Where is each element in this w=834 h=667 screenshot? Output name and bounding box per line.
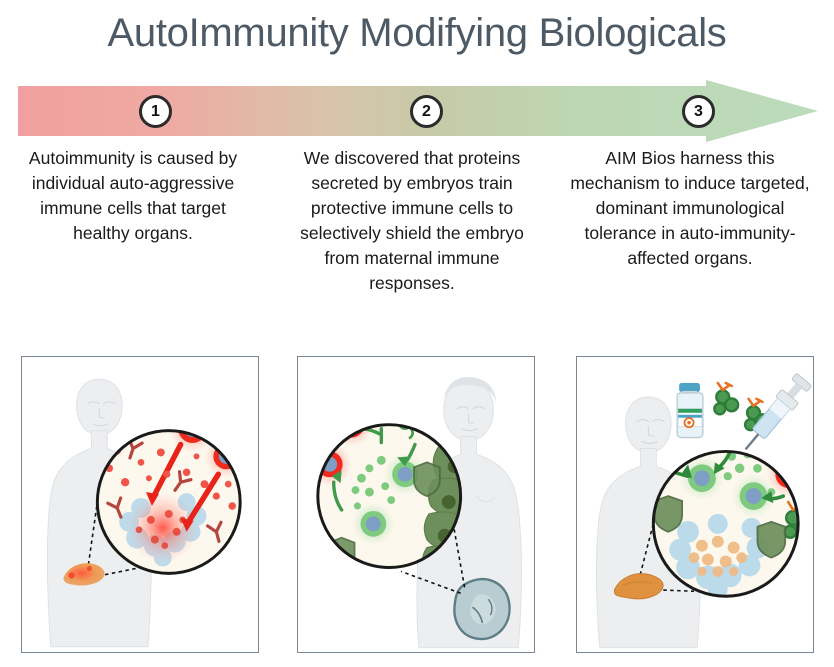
progress-arrow: 1 2 3: [18, 80, 818, 142]
page-title: AutoImmunity Modifying Biologicals: [0, 8, 834, 58]
panel-3-artwork: [577, 357, 813, 652]
description-columns: Autoimmunity is caused by individual aut…: [0, 146, 834, 341]
column-text-2: We discovered that proteins secreted by …: [291, 146, 533, 296]
infographic-canvas: AutoImmunity Modifying Biologicals 1 2 3…: [0, 0, 834, 667]
step-marker-3[interactable]: 3: [682, 95, 715, 128]
panel-1-artwork: [22, 357, 258, 652]
column-text-3: AIM Bios harness this mechanism to induc…: [569, 146, 811, 271]
column-text-1: Autoimmunity is caused by individual aut…: [12, 146, 254, 246]
step-marker-2[interactable]: 2: [410, 95, 443, 128]
step-marker-1[interactable]: 1: [139, 95, 172, 128]
panel-2-artwork: [298, 357, 534, 652]
illustration-panel-3: [576, 356, 814, 653]
embryo: [454, 579, 509, 639]
illustration-panel-1: [21, 356, 259, 653]
illustration-panel-2: [297, 356, 535, 653]
drug-vial: [677, 383, 703, 438]
